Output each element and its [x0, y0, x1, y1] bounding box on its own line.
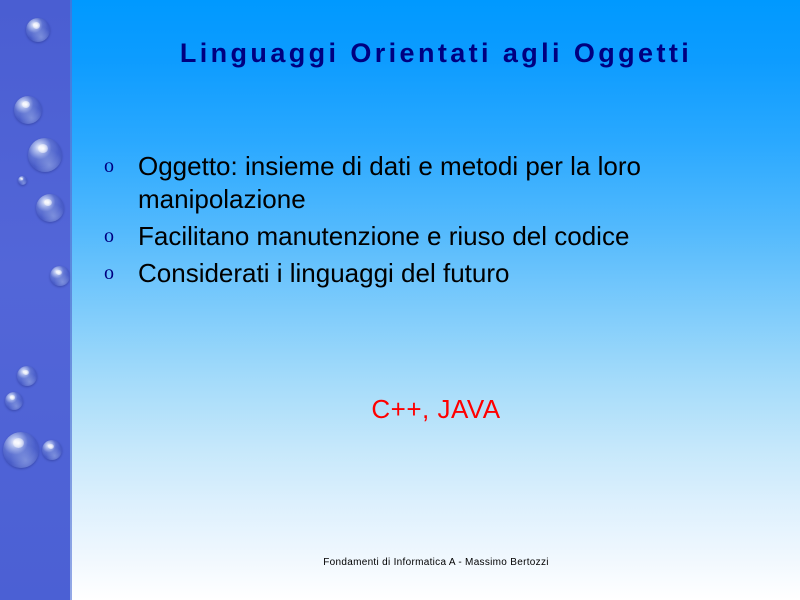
bubble-decoration-icon — [50, 266, 70, 286]
presentation-slide: Linguaggi Orientati agli Oggetti o Ogget… — [0, 0, 800, 600]
list-item: o Facilitano manutenzione e riuso del co… — [104, 220, 784, 253]
slide-footer: Fondamenti di Informatica A - Massimo Be… — [72, 557, 800, 568]
bubble-decoration-icon — [28, 138, 62, 172]
list-item-label: Facilitano manutenzione e riuso del codi… — [138, 220, 784, 253]
bullet-marker-icon: o — [104, 220, 138, 253]
list-item-label: Oggetto: insieme di dati e metodi per la… — [138, 150, 784, 216]
list-item-label: Considerati i linguaggi del futuro — [138, 257, 784, 290]
bubble-decoration-icon — [14, 96, 42, 124]
bubble-decoration-icon — [18, 176, 27, 185]
bubble-decoration-icon — [36, 194, 64, 222]
bubble-sidebar — [0, 0, 72, 600]
highlight-text: C++, JAVA — [72, 394, 800, 425]
bubble-decoration-icon — [5, 392, 23, 410]
bullet-marker-icon: o — [104, 257, 138, 290]
bubble-decoration-icon — [26, 18, 50, 42]
list-item: o Considerati i linguaggi del futuro — [104, 257, 784, 290]
bullet-list: o Oggetto: insieme di dati e metodi per … — [104, 150, 784, 294]
list-item: o Oggetto: insieme di dati e metodi per … — [104, 150, 784, 216]
slide-title: Linguaggi Orientati agli Oggetti — [72, 38, 800, 69]
bullet-marker-icon: o — [104, 150, 138, 183]
bubble-decoration-icon — [17, 366, 37, 386]
bubble-decoration-icon — [42, 440, 62, 460]
bubble-decoration-icon — [3, 432, 39, 468]
